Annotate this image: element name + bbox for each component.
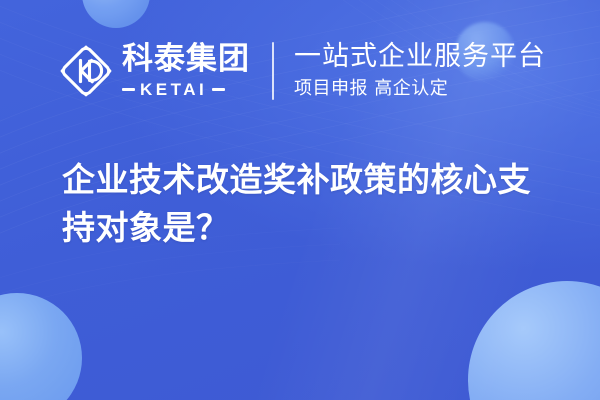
promo-banner: 科泰集团 KETAI 一站式企业服务平台 项目申报 高企认定 企业技术改造奖补政… — [0, 0, 600, 400]
company-name-cn: 科泰集团 — [122, 44, 250, 75]
logo-wordmark: 科泰集团 KETAI — [122, 44, 250, 98]
dash-left-icon — [122, 88, 135, 91]
company-name-en: KETAI — [140, 81, 207, 98]
brand-header: 科泰集团 KETAI 一站式企业服务平台 项目申报 高企认定 — [58, 42, 546, 100]
dash-right-icon — [212, 88, 225, 91]
page-title: 企业技术改造奖补政策的核心支持对象是？ — [62, 156, 562, 252]
tagline-sub: 项目申报 高企认定 — [294, 80, 546, 99]
ketai-diamond-kd-monogram-icon — [58, 43, 114, 99]
tagline-block: 一站式企业服务平台 项目申报 高企认定 — [294, 43, 546, 98]
vertical-divider — [272, 42, 274, 100]
tagline-main: 一站式企业服务平台 — [294, 43, 546, 71]
company-name-en-row: KETAI — [122, 81, 250, 98]
